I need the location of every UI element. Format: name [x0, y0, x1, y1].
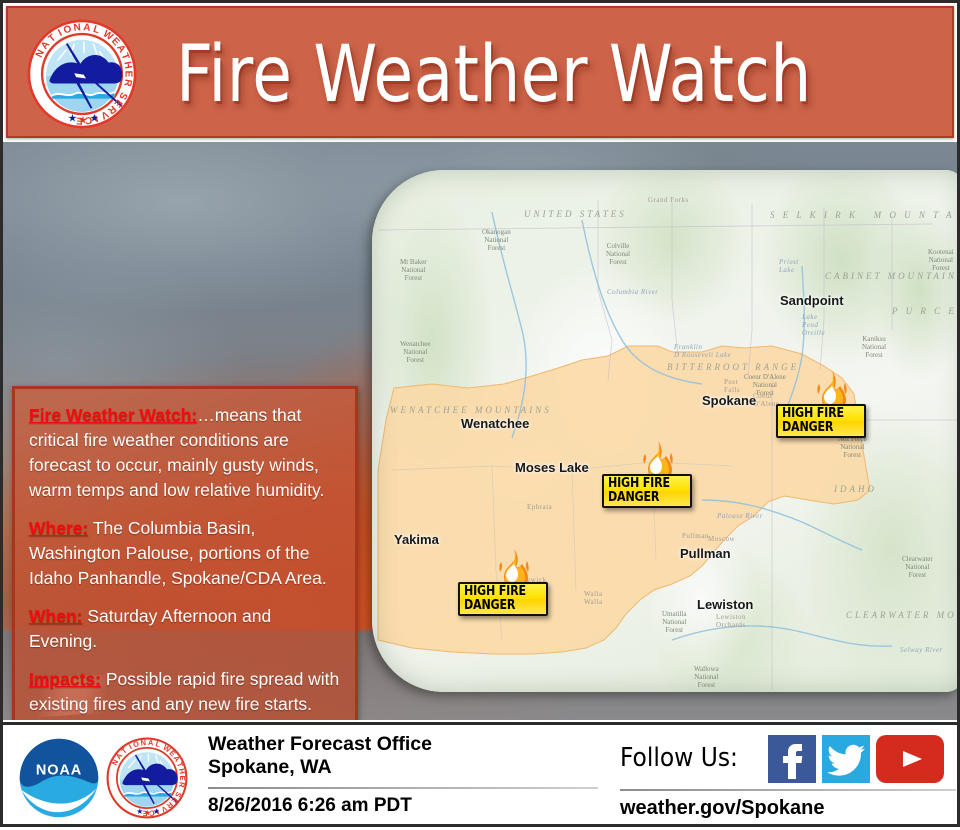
map-city-label-yakima: Yakima: [394, 532, 439, 547]
nws-seal-icon-footer: N A T I O N A L W E A T H E R S E: [104, 735, 190, 821]
map-reference-label: UNITED STATES: [524, 209, 627, 219]
map-reference-label: Columbia River: [607, 288, 659, 296]
watch-paragraph: Where: The Columbia Basin, Washington Pa…: [29, 516, 341, 591]
map-city-label-lewiston: Lewiston: [697, 597, 753, 612]
youtube-icon[interactable]: [876, 735, 944, 783]
svg-text:★: ★: [78, 115, 87, 126]
svg-text:★: ★: [144, 808, 151, 817]
map-reference-label: S E L K I R K M O U N T A I N S: [770, 210, 960, 220]
map-reference-label: Kootenai National Forest: [928, 248, 954, 272]
svg-text:★: ★: [153, 807, 160, 816]
nws-seal-icon: N A T I O N A L W E A T H E R S E: [20, 17, 144, 131]
issued-timestamp: 8/26/2016 6:26 am PDT: [208, 795, 412, 817]
svg-text:E: E: [178, 775, 187, 780]
svg-text:★: ★: [90, 114, 99, 125]
svg-text:★: ★: [68, 114, 77, 125]
office-name-line2: Spokane, WA: [208, 756, 618, 779]
map-reference-label: Kaniksu National Forest: [862, 335, 886, 359]
svg-text:N: N: [140, 738, 146, 748]
map-reference-label: Colville National Forest: [606, 242, 630, 266]
map-city-label-spokane: Spokane: [702, 393, 756, 408]
watch-paragraph-keyword: Fire Weather Watch:: [29, 405, 197, 425]
high-fire-danger-badge: HIGH FIREDANGER: [602, 440, 698, 514]
map-city-label-sandpoint: Sandpoint: [780, 293, 844, 308]
forecast-map[interactable]: UNITED STATESS E L K I R K M O U N T A I…: [372, 170, 960, 692]
map-reference-label: Okanogan National Forest: [482, 228, 511, 252]
page-title: Fire Weather Watch: [176, 20, 812, 130]
map-reference-label: CLEARWATER MOUN: [846, 610, 960, 620]
map-reference-label: IDAHO: [834, 484, 877, 494]
watch-paragraph-keyword: Impacts:: [29, 669, 101, 689]
high-fire-danger-badge: HIGH FIREDANGER: [458, 548, 554, 622]
fire-danger-plate: HIGH FIREDANGER: [602, 474, 692, 508]
map-reference-label: Walla Walla: [584, 590, 603, 606]
map-reference-label: Grand Forks: [648, 196, 689, 204]
website-url[interactable]: weather.gov/Spokane: [620, 797, 825, 820]
map-reference-label: P U R C E L L M O U: [892, 306, 960, 316]
svg-text:A: A: [83, 22, 91, 34]
map-reference-label: Clearwater National Forest: [902, 555, 933, 579]
fire-danger-line1: HIGH FIRE: [782, 407, 860, 421]
fire-weather-watch-graphic: N A T I O N A L W E A T H E R S E: [0, 0, 960, 827]
watch-details-panel: Fire Weather Watch:…means that critical …: [12, 386, 358, 720]
map-reference-label: Priest Lake: [779, 258, 799, 274]
fire-danger-line1: HIGH FIRE: [608, 477, 686, 491]
twitter-icon[interactable]: [822, 735, 870, 783]
map-reference-label: Umatilla National Forest: [662, 610, 687, 634]
map-reference-label: Mt Baker National Forest: [400, 258, 427, 282]
map-city-label-wenatchee: Wenatchee: [461, 416, 529, 431]
map-city-label-pullman: Pullman: [680, 546, 731, 561]
map-reference-label: Lake Pend Oreille: [802, 313, 825, 337]
map-city-label-moses-lake: Moses Lake: [515, 460, 589, 475]
fire-danger-line1: HIGH FIRE: [464, 585, 542, 599]
svg-text:E: E: [123, 71, 134, 78]
map-reference-label: Wenatchee National Forest: [400, 340, 431, 364]
svg-text:NOAA: NOAA: [36, 763, 82, 779]
map-reference-label: Lewiston Orchards: [716, 613, 746, 629]
watch-paragraph: Fire Weather Watch:…means that critical …: [29, 403, 341, 503]
watch-paragraph: Impacts: Possible rapid fire spread with…: [29, 667, 341, 717]
fire-danger-plate: HIGH FIREDANGER: [776, 404, 866, 438]
watch-paragraph: When: Saturday Afternoon and Evening.: [29, 604, 341, 654]
map-reference-label: Wallowa National Forest: [694, 665, 719, 689]
facebook-icon[interactable]: [768, 735, 816, 783]
map-reference-label: Selway River: [900, 646, 943, 654]
fire-danger-line2: DANGER: [608, 491, 686, 505]
footer: NOAA N A: [0, 722, 960, 830]
map-reference-label: Pullman: [682, 532, 709, 540]
fire-danger-line2: DANGER: [464, 599, 542, 613]
map-reference-label: Palouse River: [717, 512, 763, 520]
follow-us-label: Follow Us:: [620, 743, 738, 773]
svg-text:★: ★: [136, 807, 143, 816]
high-fire-danger-badge: HIGH FIREDANGER: [776, 370, 872, 444]
footer-divider-right: [620, 789, 956, 791]
watch-paragraph-keyword: Where:: [29, 518, 88, 538]
map-reference-label: Post Falls: [724, 378, 740, 394]
map-reference-label: Moscow: [708, 535, 735, 543]
map-reference-label: WENATCHEE MOUNTAINS: [390, 405, 552, 415]
background-photo: UNITED STATESS E L K I R K M O U N T A I…: [0, 142, 960, 720]
map-reference-label: Franklin D Roosevelt Lake: [674, 343, 731, 359]
office-name-line1: Weather Forecast Office: [208, 733, 618, 756]
watch-paragraph-keyword: When:: [29, 606, 82, 626]
header-banner: N A T I O N A L W E A T H E R S E: [6, 6, 954, 138]
svg-text:N: N: [73, 22, 81, 34]
map-reference-label: CABINET MOUNTAINS: [825, 271, 960, 281]
fire-danger-plate: HIGH FIREDANGER: [458, 582, 548, 616]
noaa-logo-icon: NOAA: [16, 737, 102, 819]
footer-divider-left: [208, 787, 598, 789]
fire-danger-line2: DANGER: [782, 421, 860, 435]
map-reference-label: Ephrata: [527, 503, 552, 511]
office-name: Weather Forecast Office Spokane, WA: [208, 733, 618, 779]
